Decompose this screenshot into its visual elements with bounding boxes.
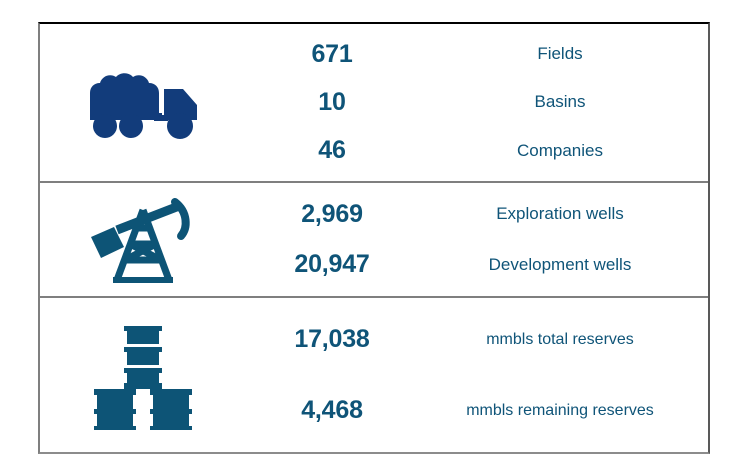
stat-value: 2,969 — [246, 200, 418, 229]
icon-cell-truck — [40, 63, 246, 143]
stat-label: Development wells — [418, 255, 708, 275]
stat-lines: 2,969 Exploration wells 20,947 Developme… — [246, 183, 708, 296]
tanker-truck-icon — [84, 63, 202, 143]
stat-row: 2,969 Exploration wells 20,947 Developme… — [40, 181, 708, 296]
stat-value: 17,038 — [246, 325, 418, 354]
icon-cell-barrels — [40, 320, 246, 430]
stat-label: Companies — [418, 141, 708, 161]
stat-line: 2,969 Exploration wells — [246, 189, 708, 240]
stat-line: 46 Companies — [246, 127, 708, 175]
stat-value: 20,947 — [246, 250, 418, 279]
stat-label: Exploration wells — [418, 204, 708, 224]
stat-value: 4,468 — [246, 396, 418, 425]
stat-lines: 671 Fields 10 Basins 46 Companies — [246, 24, 708, 181]
stat-value: 46 — [246, 136, 418, 165]
stat-line: 671 Fields — [246, 30, 708, 78]
stat-label: mmbls total reserves — [418, 331, 708, 349]
stat-row: 17,038 mmbls total reserves 4,468 mmbls … — [40, 296, 708, 452]
stat-value: 671 — [246, 40, 418, 69]
pumpjack-icon — [87, 192, 199, 287]
stat-value: 10 — [246, 88, 418, 117]
stat-line: 4,468 mmbls remaining reserves — [246, 375, 708, 446]
stat-lines: 17,038 mmbls total reserves 4,468 mmbls … — [246, 298, 708, 452]
icon-cell-pumpjack — [40, 192, 246, 287]
stat-label: Basins — [418, 92, 708, 112]
stat-line: 10 Basins — [246, 78, 708, 126]
stat-line: 20,947 Development wells — [246, 240, 708, 291]
stat-label: mmbls remaining reserves — [418, 402, 708, 420]
oil-barrels-icon — [88, 320, 198, 430]
statistics-panel: 671 Fields 10 Basins 46 Companies — [38, 22, 710, 454]
stat-line: 17,038 mmbls total reserves — [246, 304, 708, 375]
stat-label: Fields — [418, 44, 708, 64]
stat-row: 671 Fields 10 Basins 46 Companies — [40, 24, 708, 181]
